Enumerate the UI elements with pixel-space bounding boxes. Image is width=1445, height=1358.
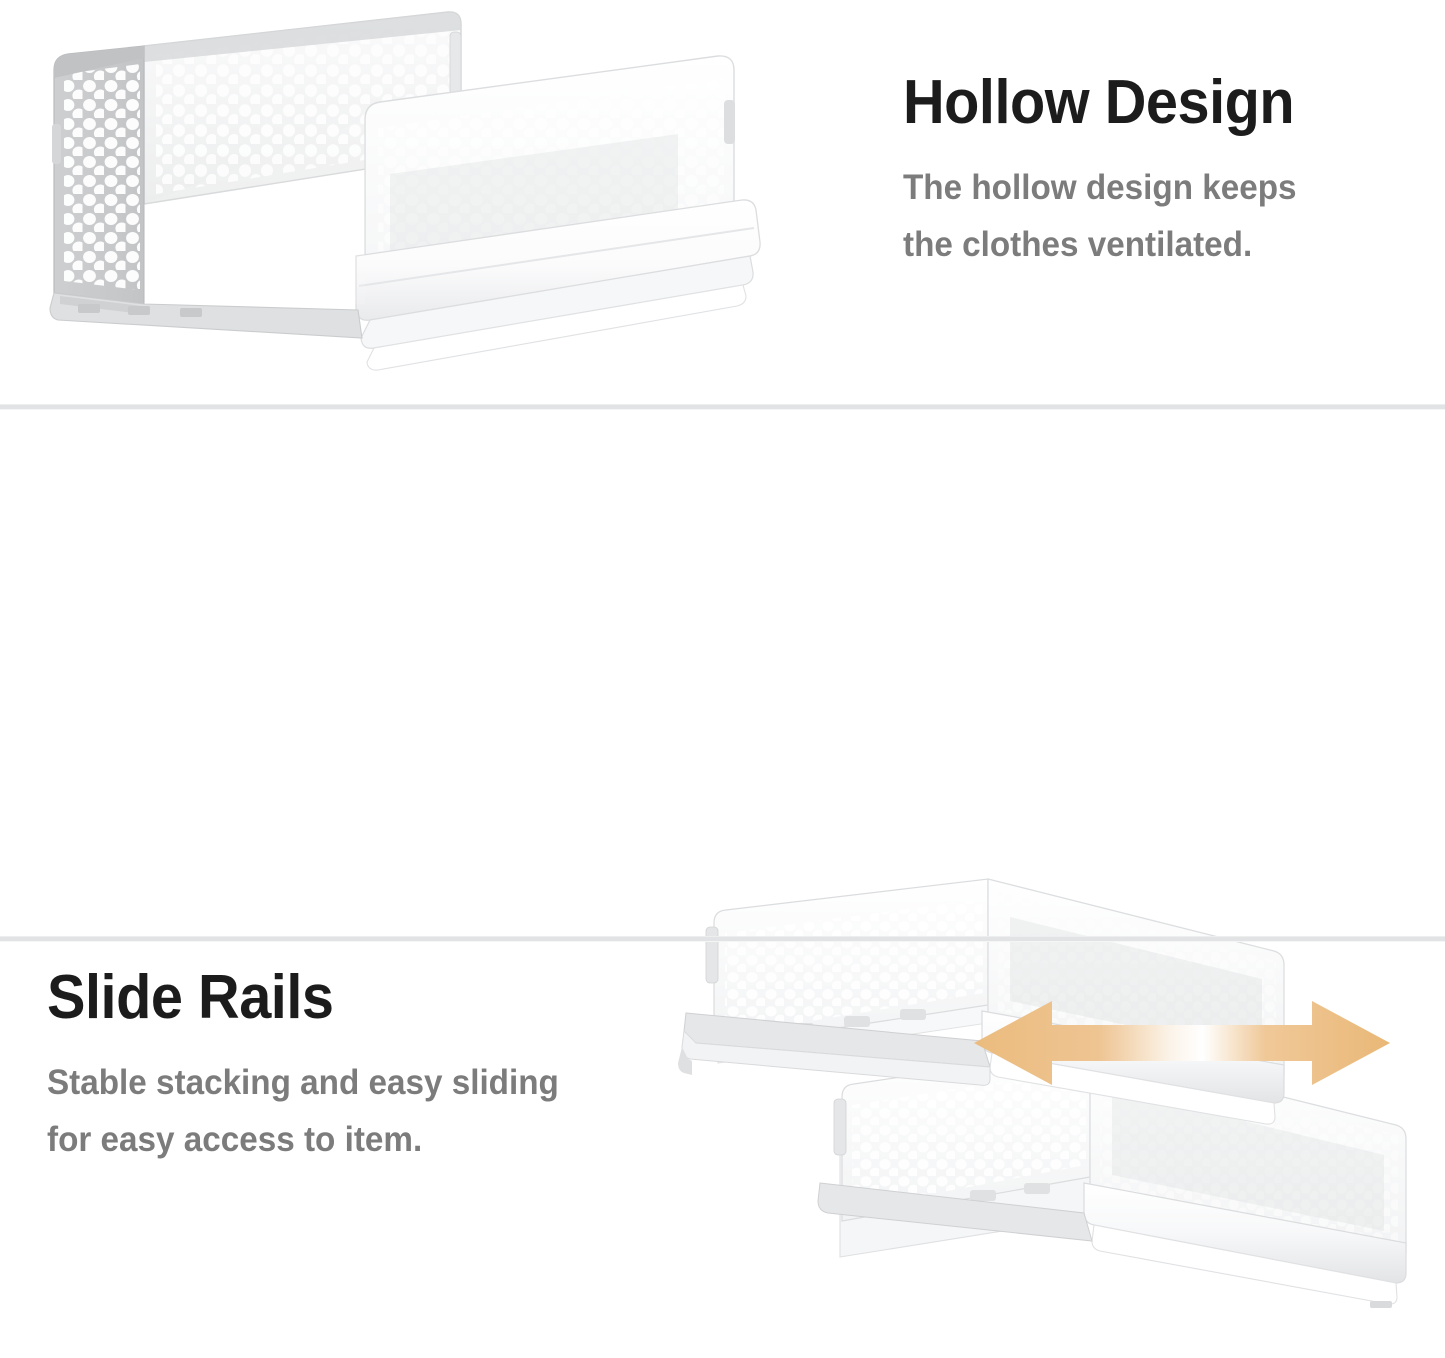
divider-between-panel-2-and-3: [0, 936, 1445, 942]
base-snap-3: [180, 308, 202, 317]
panel-hollow-design: Hollow Design The hollow design keeps th…: [0, 0, 1445, 405]
product-feature-infographic: Hollow Design The hollow design keeps th…: [0, 0, 1445, 1358]
front-panel-buckle: [724, 100, 735, 144]
left-panel-buckle: [52, 124, 61, 164]
panel-subtext: The hollow design keeps the clothes vent…: [903, 160, 1397, 273]
text-block-hollow-design: Hollow Design The hollow design keeps th…: [903, 72, 1423, 273]
base-snap-1: [78, 304, 100, 313]
panel-heading: Hollow Design: [903, 72, 1387, 134]
basket-center-hinge: [450, 32, 461, 94]
illustration-single-storage-basket-perforated: [18, 4, 808, 404]
panel-reinforced-snap: Reinforced Snap Reinforced buckles to in…: [0, 944, 1445, 1358]
base-snap-2: [128, 306, 150, 315]
subtext-line: the clothes ventilated.: [903, 217, 1397, 274]
divider-between-panel-1-and-2: [0, 404, 1445, 410]
basket-left-panel: [52, 46, 144, 304]
subtext-line: The hollow design keeps: [903, 160, 1397, 217]
panel-slide-rails: Slide Rails Stable stacking and easy sli…: [0, 413, 1445, 936]
